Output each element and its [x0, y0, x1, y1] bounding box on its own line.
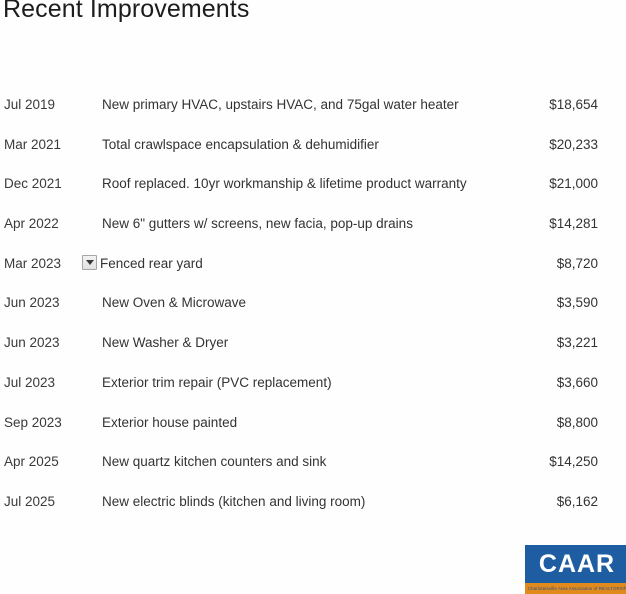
table-row: Mar 2023Fenced rear yard$8,720: [0, 255, 626, 295]
improvement-date: Jul 2019: [4, 96, 90, 113]
improvement-date: Mar 2021: [4, 136, 90, 153]
improvement-date: Jun 2023: [4, 334, 90, 351]
page-title-container: Recent Improvements: [0, 0, 626, 28]
improvement-amount: $21,000: [440, 175, 598, 192]
table-row: Jun 2023New Washer & Dryer$3,221: [0, 334, 626, 374]
table-row: Apr 2022New 6" gutters w/ screens, new f…: [0, 215, 626, 255]
improvement-date: Jun 2023: [4, 294, 90, 311]
table-row: Dec 2021Roof replaced. 10yr workmanship …: [0, 175, 626, 215]
improvement-amount: $18,654: [440, 96, 598, 113]
caar-logo-tagline: Charlottesville Area Association of REAL…: [525, 583, 626, 594]
improvement-date: Dec 2021: [4, 175, 90, 192]
improvement-date: Sep 2023: [4, 414, 90, 431]
improvement-amount: $3,590: [440, 294, 598, 311]
improvement-amount: $8,800: [440, 414, 598, 431]
improvement-date: Apr 2022: [4, 215, 90, 232]
table-row: Jul 2023Exterior trim repair (PVC replac…: [0, 374, 626, 414]
caar-logo-wordmark: CAAR: [525, 545, 626, 583]
improvement-amount: $14,250: [440, 453, 598, 470]
improvements-table: Jul 2019New primary HVAC, upstairs HVAC,…: [0, 96, 626, 533]
table-row: Mar 2021Total crawlspace encapsulation &…: [0, 136, 626, 176]
caar-logo: CAAR Charlottesville Area Association of…: [525, 545, 626, 594]
improvement-date: Mar 2023: [4, 255, 90, 272]
table-row: Sep 2023Exterior house painted$8,800: [0, 414, 626, 454]
improvement-date: Apr 2025: [4, 453, 90, 470]
table-row: Jul 2019New primary HVAC, upstairs HVAC,…: [0, 96, 626, 136]
improvement-amount: $3,221: [440, 334, 598, 351]
improvement-amount: $6,162: [440, 493, 598, 510]
improvement-date: Jul 2023: [4, 374, 90, 391]
page-title: Recent Improvements: [3, 0, 249, 24]
improvement-amount: $3,660: [440, 374, 598, 391]
improvement-date: Jul 2025: [4, 493, 90, 510]
improvement-amount: $20,233: [440, 136, 598, 153]
caar-logo-box: CAAR Charlottesville Area Association of…: [525, 545, 626, 594]
table-row: Jul 2025New electric blinds (kitchen and…: [0, 493, 626, 533]
page-canvas: Recent Improvements Jul 2019New primary …: [0, 0, 626, 594]
table-row: Jun 2023New Oven & Microwave$3,590: [0, 294, 626, 334]
table-row: Apr 2025New quartz kitchen counters and …: [0, 453, 626, 493]
improvement-amount: $14,281: [440, 215, 598, 232]
improvement-amount: $8,720: [440, 255, 598, 272]
